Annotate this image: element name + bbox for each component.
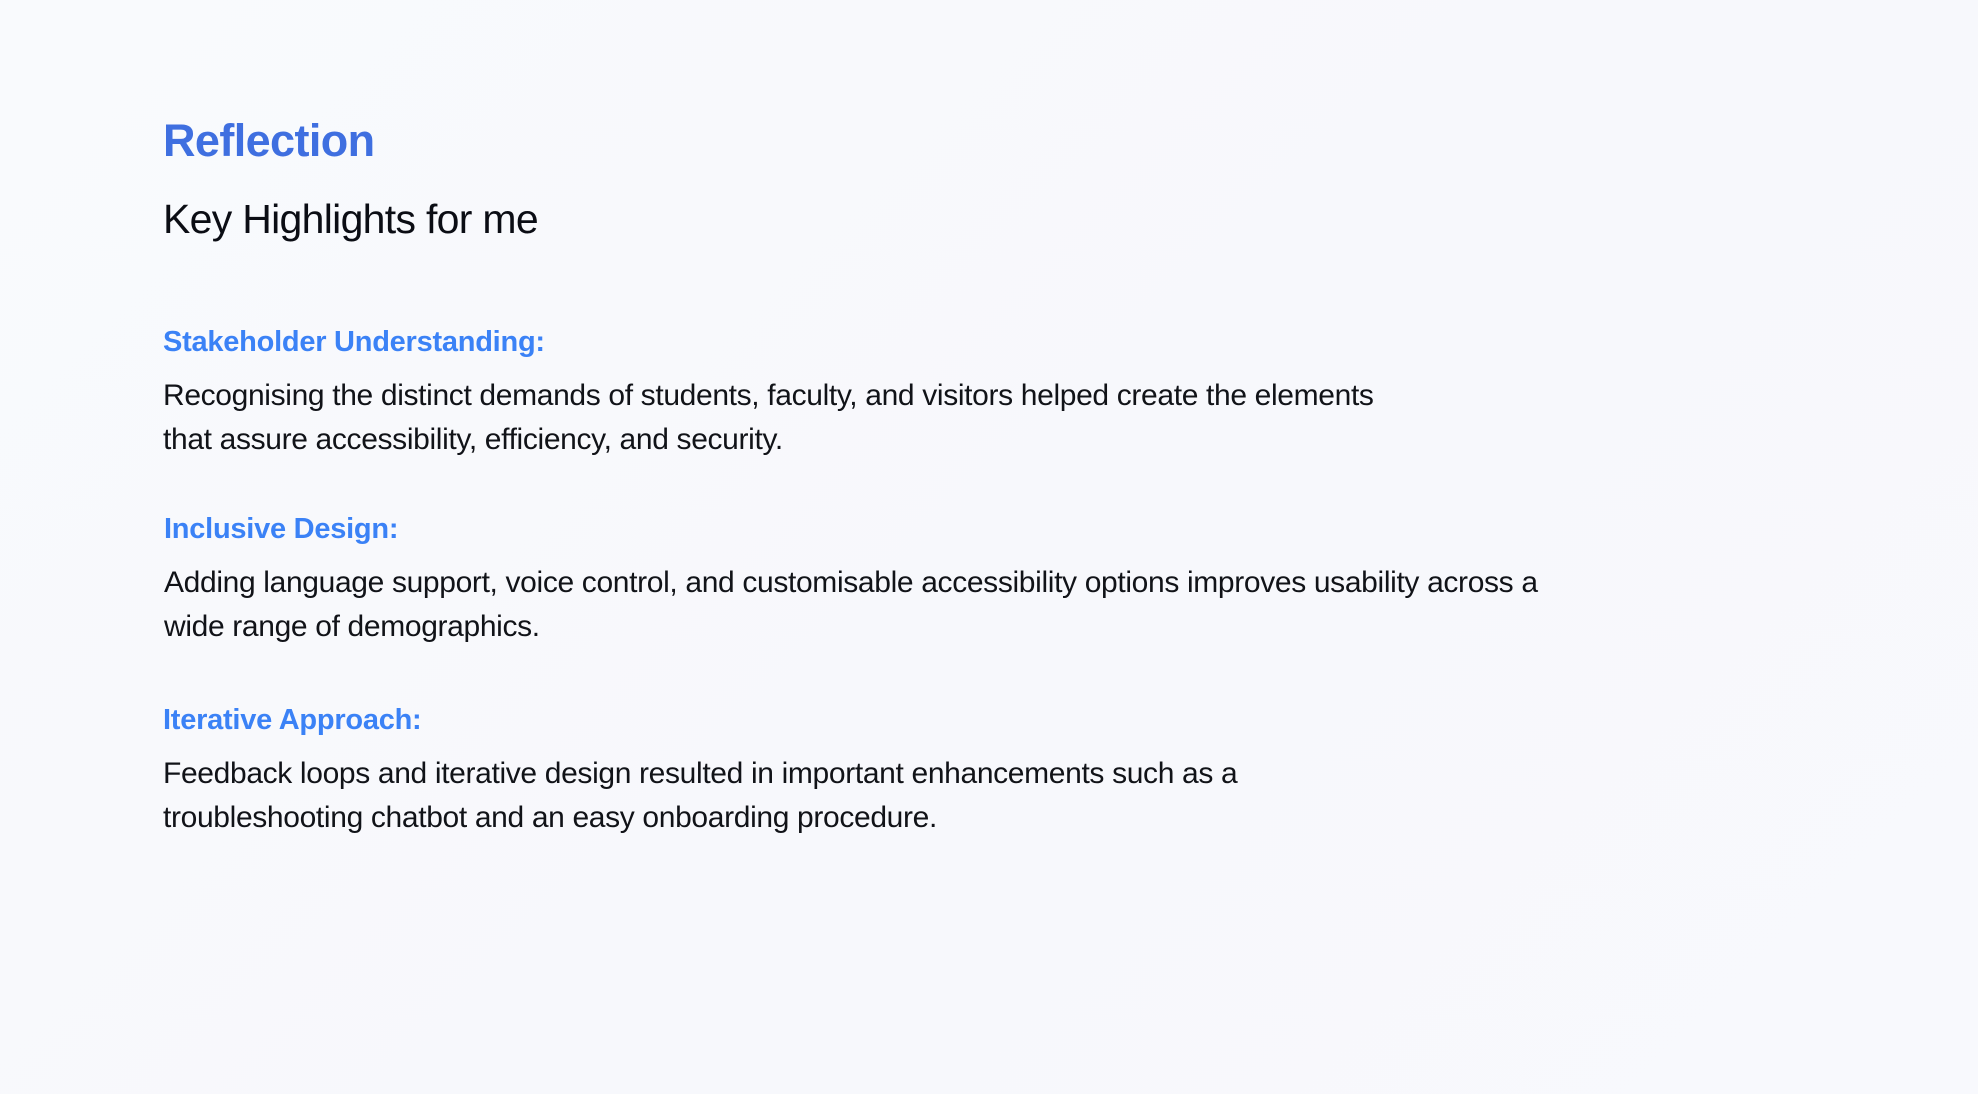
section-heading: Iterative Approach: — [163, 706, 1943, 735]
section-heading: Stakeholder Understanding: — [163, 328, 1943, 357]
page-subtitle: Key Highlights for me — [163, 199, 1943, 240]
reflection-slide: Reflection Key Highlights for me Stakeho… — [0, 0, 1978, 1094]
body-line: Adding language support, voice control, … — [164, 561, 1943, 605]
section-body: Recognising the distinct demands of stud… — [163, 374, 1943, 463]
body-line: wide range of demographics. — [164, 605, 1943, 649]
slide-content: Reflection Key Highlights for me Stakeho… — [163, 0, 1943, 840]
sections-list: Stakeholder Understanding: Recognising t… — [163, 328, 1943, 840]
page-title: Reflection — [163, 118, 1943, 163]
section-inclusive-design: Inclusive Design: Adding language suppor… — [163, 515, 1943, 650]
section-stakeholder-understanding: Stakeholder Understanding: Recognising t… — [163, 328, 1943, 463]
body-line: troubleshooting chatbot and an easy onbo… — [163, 796, 1943, 840]
title-block: Reflection Key Highlights for me — [163, 0, 1943, 240]
body-line: that assure accessibility, efficiency, a… — [163, 418, 1943, 462]
body-line: Recognising the distinct demands of stud… — [163, 374, 1943, 418]
section-heading: Inclusive Design: — [164, 515, 1943, 544]
section-iterative-approach: Iterative Approach: Feedback loops and i… — [163, 706, 1943, 841]
section-body: Adding language support, voice control, … — [164, 561, 1943, 650]
body-line: Feedback loops and iterative design resu… — [163, 752, 1943, 796]
section-body: Feedback loops and iterative design resu… — [163, 752, 1943, 841]
